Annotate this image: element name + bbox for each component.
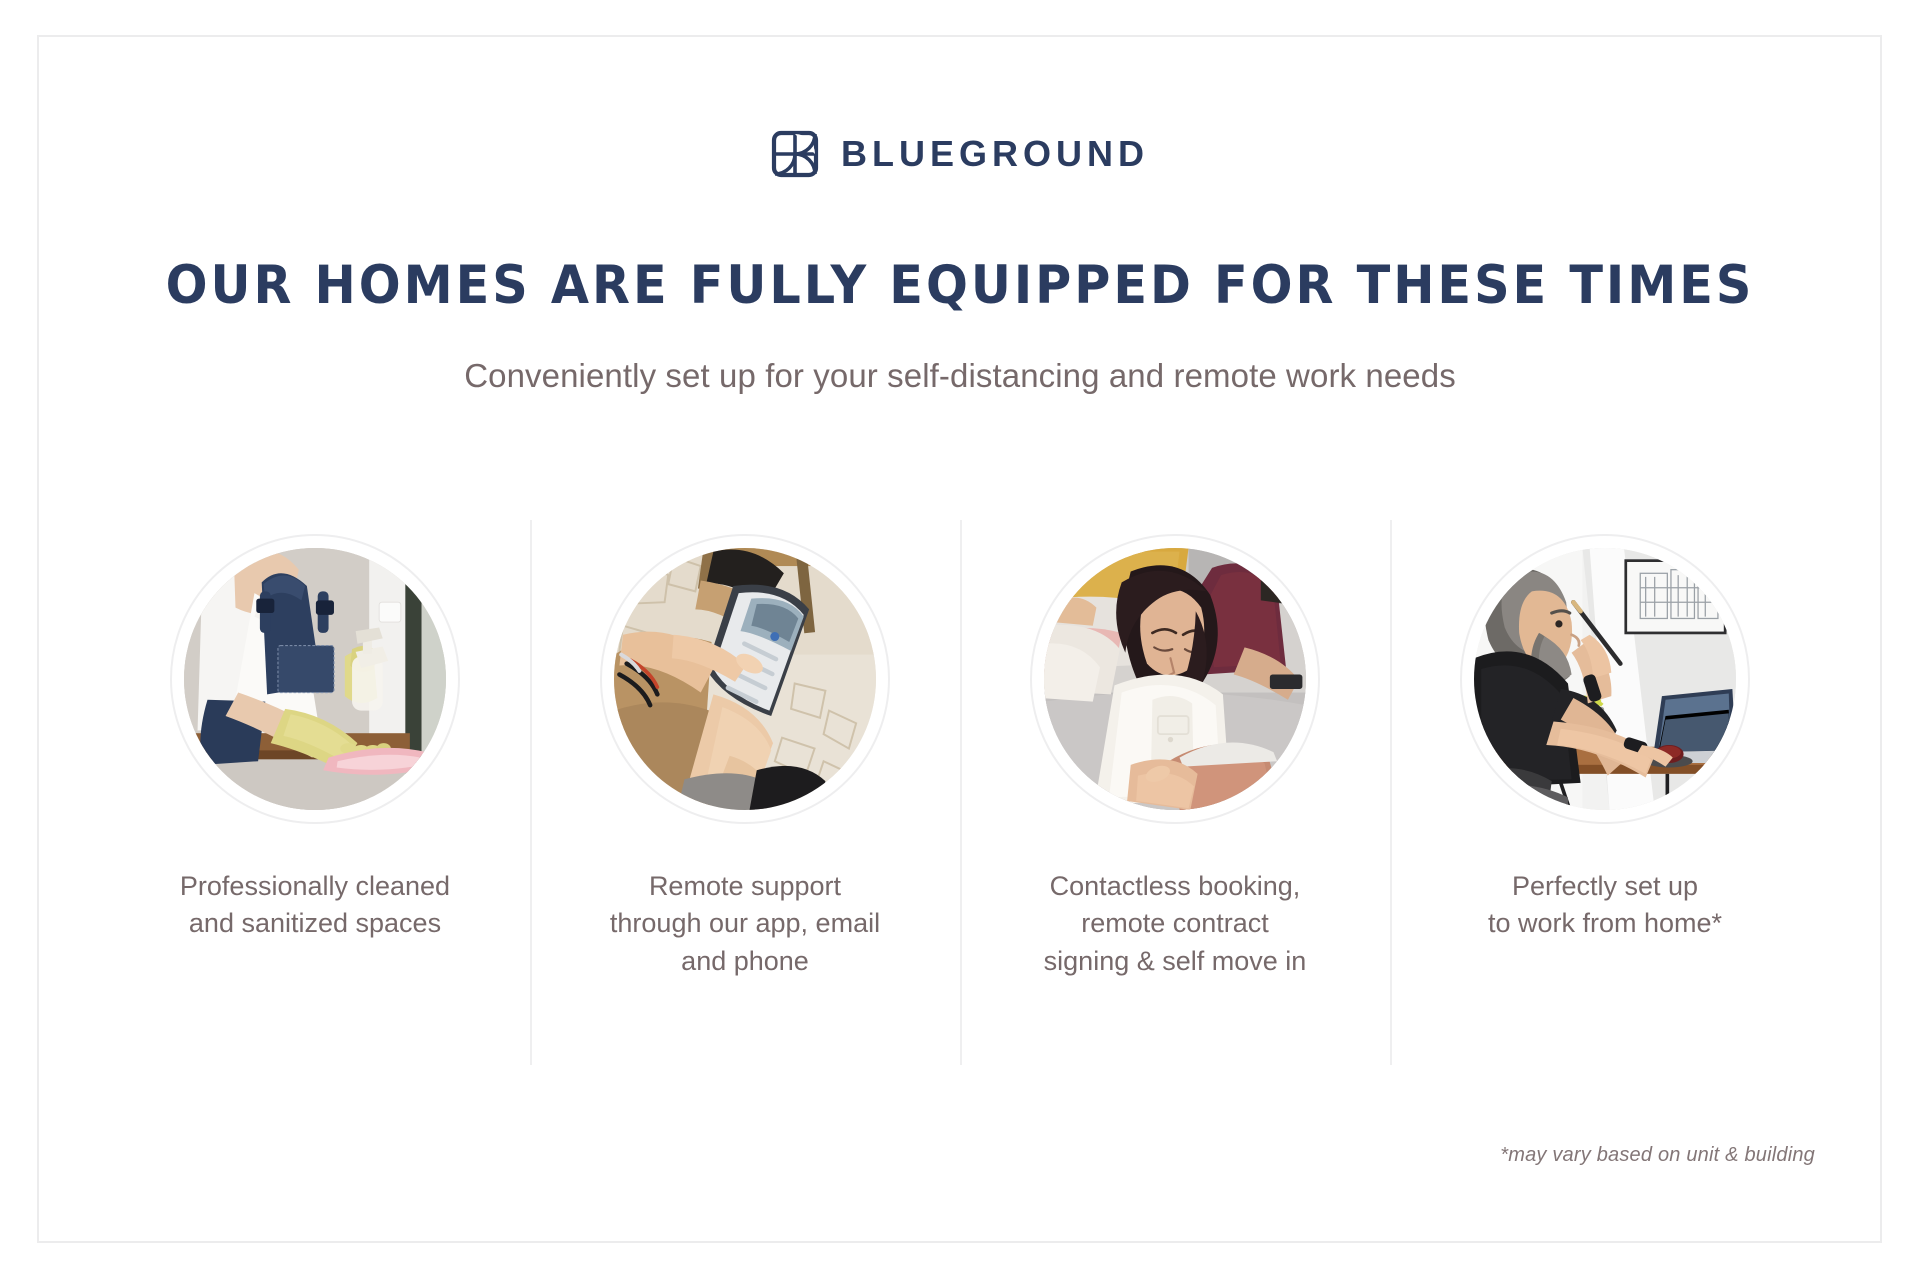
- feature-photo-ring: [170, 534, 460, 824]
- brand-wordmark: BLUEGROUND: [841, 136, 1149, 172]
- marketing-infographic-page: BLUEGROUND OUR HOMES ARE FULLY EQUIPPED …: [0, 0, 1920, 1280]
- phone-app-photo: [614, 548, 876, 810]
- feature-photo-ring: [600, 534, 890, 824]
- page-title: OUR HOMES ARE FULLY EQUIPPED FOR THESE T…: [67, 258, 1853, 314]
- feature-photo-ring: [1460, 534, 1750, 824]
- brand-logo: BLUEGROUND: [0, 130, 1920, 178]
- feature-caption: Contactless booking, remote contract sig…: [1044, 868, 1307, 980]
- feature-list: Professionally cleaned and sanitized spa…: [100, 520, 1820, 1065]
- feature-caption: Professionally cleaned and sanitized spa…: [180, 868, 450, 943]
- feature-item-work-from-home: Perfectly set up to work from home*: [1390, 520, 1820, 1065]
- feature-item-cleaning: Professionally cleaned and sanitized spa…: [100, 520, 530, 1065]
- work-from-home-photo: [1474, 548, 1736, 810]
- footnote-disclaimer: *may vary based on unit & building: [1500, 1144, 1815, 1167]
- feature-photo-ring: [1030, 534, 1320, 824]
- page-subtitle: Conveniently set up for your self-distan…: [0, 355, 1920, 398]
- feature-caption: Perfectly set up to work from home*: [1488, 868, 1722, 943]
- blueground-square-logo-icon: [771, 130, 819, 178]
- feature-item-remote-support: Remote support through our app, email an…: [530, 520, 960, 1065]
- feature-item-contactless-booking: Contactless booking, remote contract sig…: [960, 520, 1390, 1065]
- tablet-bed-photo: [1044, 548, 1306, 810]
- feature-caption: Remote support through our app, email an…: [610, 868, 880, 980]
- cleaning-photo: [184, 548, 446, 810]
